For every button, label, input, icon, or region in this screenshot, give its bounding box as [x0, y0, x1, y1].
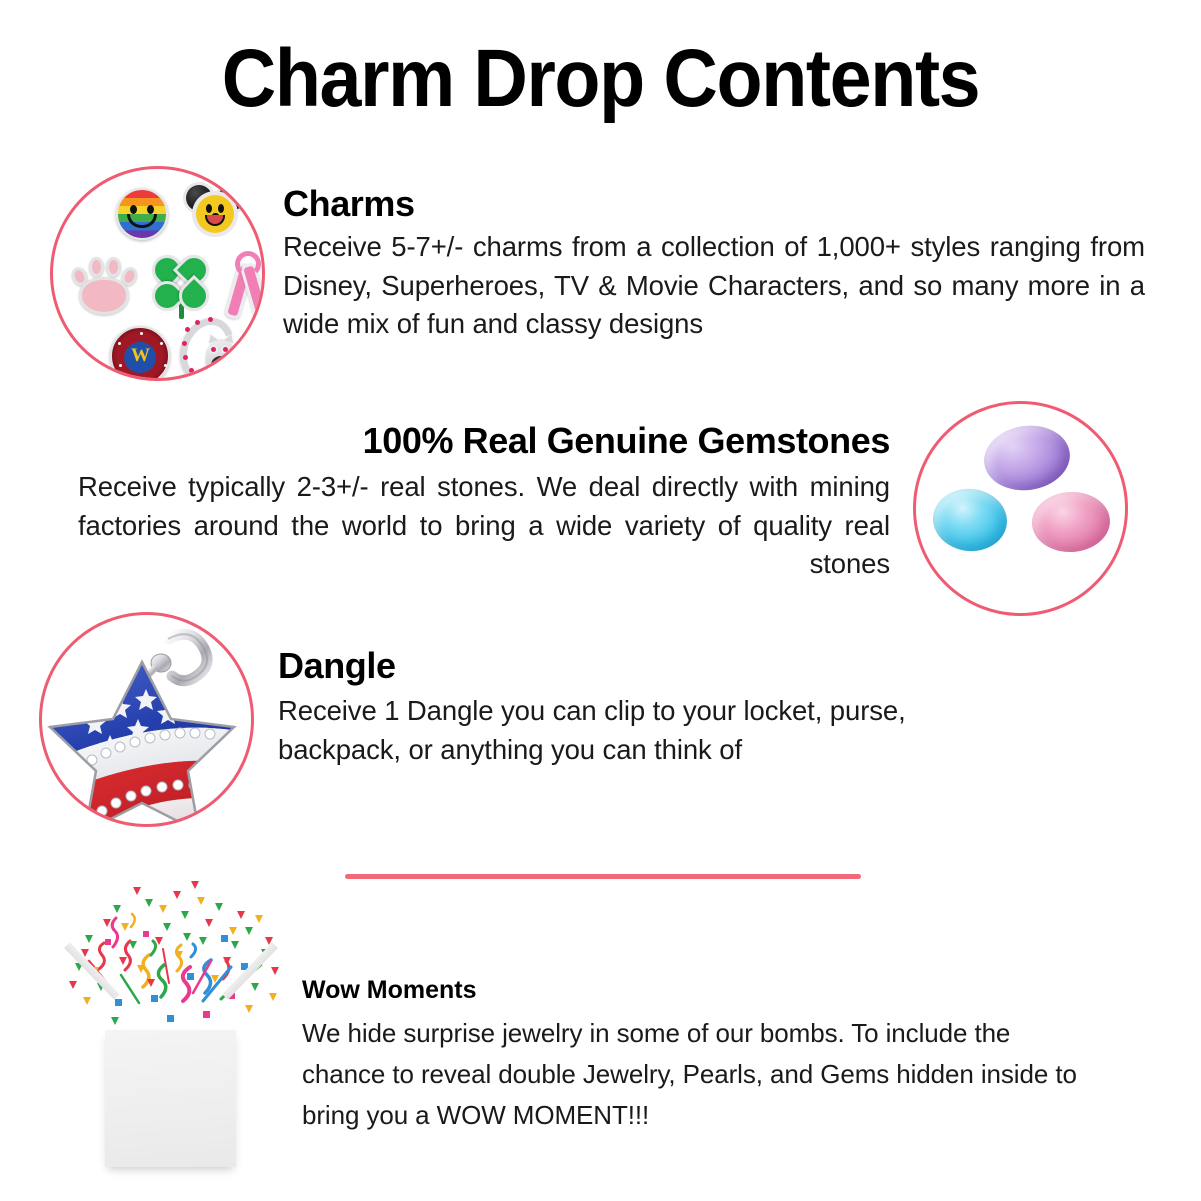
- green-four-leaf-clover-charm-icon: [148, 251, 214, 321]
- american-flag-star-dangle-icon: [42, 615, 254, 827]
- gemstones-photo-inner: [916, 404, 1125, 613]
- owl-crescent-moon-charm-icon: [181, 317, 247, 381]
- wow-moments-heading: Wow Moments: [302, 977, 477, 1005]
- charms-body-text: Receive 5-7+/- charms from a collection …: [283, 228, 1145, 344]
- section-divider: [345, 874, 861, 879]
- page-title: Charm Drop Contents: [48, 38, 1153, 120]
- owl-body-icon: [206, 339, 236, 377]
- box-front-panel: [105, 1030, 236, 1167]
- rainbow-eye-left-icon: [130, 205, 137, 214]
- moon-gem-icon: [189, 368, 194, 373]
- rainbow-eye-right-icon: [147, 205, 154, 214]
- mickey-eye-right-icon: [218, 204, 224, 213]
- flag-star-body-icon: [42, 655, 254, 827]
- purple-amethyst-gem-icon: [980, 420, 1074, 495]
- mickey-smile-icon: [205, 215, 225, 226]
- pink-paw-print-charm-icon: [69, 255, 141, 317]
- wonder-woman-shield-charm-icon: W: [110, 326, 170, 381]
- gemstones-photo: [913, 401, 1128, 616]
- dangle-photo: [39, 612, 254, 827]
- moon-gem-icon: [208, 317, 213, 322]
- ww-stud-icon: [160, 342, 163, 345]
- ww-stud-icon: [164, 364, 167, 367]
- confetti-box-photo: [55, 875, 305, 1190]
- moon-gem-icon: [185, 327, 190, 332]
- gemstones-body-text: Receive typically 2-3+/- real stones. We…: [78, 468, 890, 584]
- dangle-body-text: Receive 1 Dangle you can clip to your lo…: [278, 692, 958, 769]
- paw-toe-2-icon: [89, 257, 104, 277]
- owl-eye-left-icon: [209, 345, 218, 354]
- pink-awareness-ribbon-charm-icon: [223, 251, 265, 323]
- moon-gem-icon: [183, 355, 188, 360]
- pink-tourmaline-gem-icon: [1030, 490, 1111, 554]
- mickey-mouse-charm-icon: [186, 183, 244, 239]
- dangle-heading: Dangle: [278, 646, 396, 686]
- rainbow-mouth-icon: [127, 214, 157, 228]
- ribbon-loop-icon: [235, 251, 261, 277]
- owl-belly-icon: [211, 356, 231, 374]
- moon-gem-icon: [182, 341, 187, 346]
- paw-main-pad-icon: [79, 277, 129, 315]
- wow-moments-body-text: We hide surprise jewelry in some of our …: [302, 1013, 1092, 1136]
- charms-heading: Charms: [283, 184, 415, 224]
- lobster-clasp-icon: [146, 634, 207, 681]
- mickey-eye-left-icon: [206, 204, 212, 213]
- rainbow-smiley-charm-icon: [116, 188, 168, 240]
- ww-stud-icon: [118, 342, 121, 345]
- ww-stud-icon: [140, 379, 143, 381]
- moon-gem-icon: [195, 320, 200, 325]
- paw-toe-3-icon: [106, 257, 121, 277]
- blue-topaz-gem-icon: [930, 485, 1010, 554]
- gemstones-heading: 100% Real Genuine Gemstones: [60, 421, 890, 461]
- ww-letter-icon: W: [123, 346, 157, 365]
- ww-stud-icon: [119, 364, 122, 367]
- charms-photo-inner: W: [53, 169, 262, 378]
- moon-gem-icon: [199, 377, 204, 381]
- owl-eye-right-icon: [221, 345, 230, 354]
- owl-tuft-left-icon: [206, 333, 218, 344]
- ww-emblem-disc-icon: W: [123, 339, 157, 373]
- charms-photo: W: [50, 166, 265, 381]
- mickey-head-icon: [196, 195, 234, 233]
- ww-stud-icon: [140, 332, 143, 335]
